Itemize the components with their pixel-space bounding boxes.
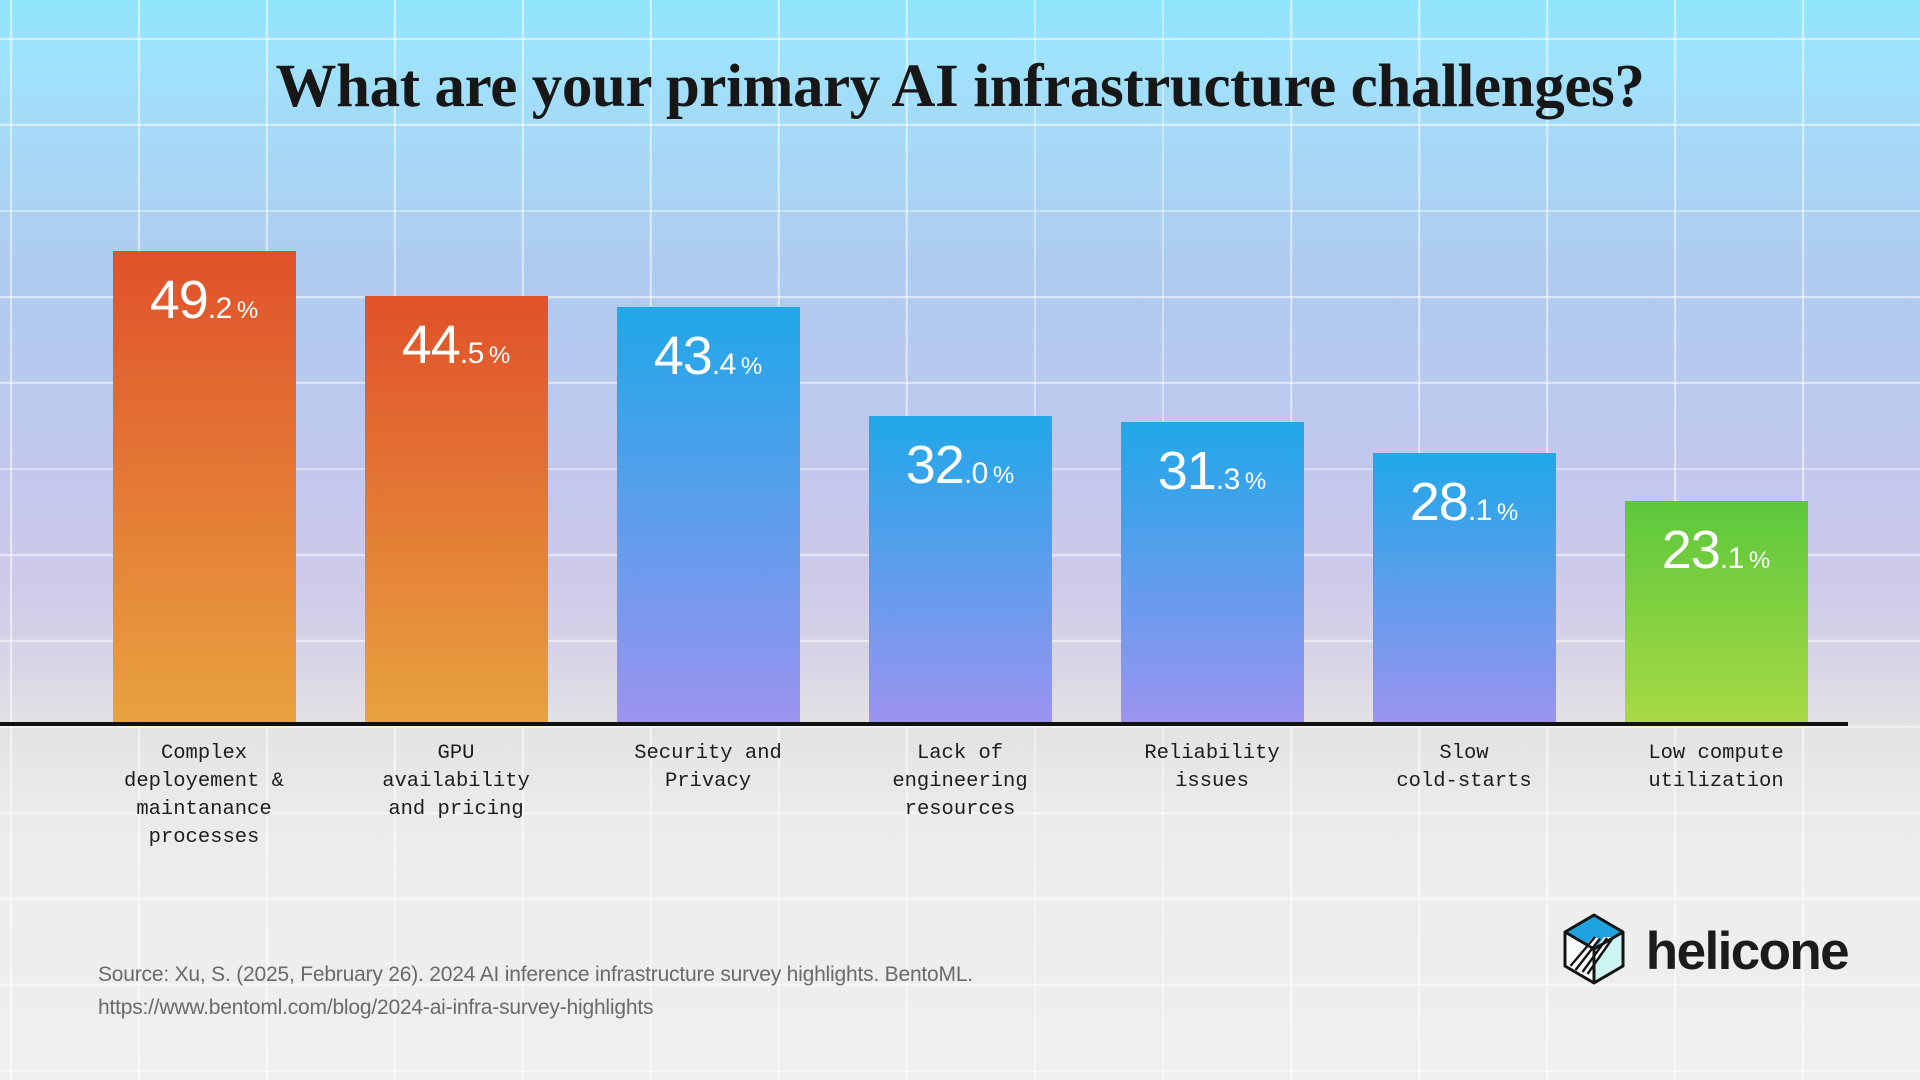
x-axis-category-label: GPU availability and pricing	[330, 740, 582, 824]
bar-value-decimal: .1	[1720, 542, 1744, 575]
bar-slot: 23.1%	[1590, 150, 1842, 722]
x-axis-category-label: Low compute utilization	[1590, 740, 1842, 796]
bar-value-label: 49.2%	[113, 273, 296, 327]
bar-value-integer: 32	[906, 435, 964, 495]
x-axis-category-label: Slow cold-starts	[1338, 740, 1590, 796]
bar-value-decimal: .5	[460, 337, 484, 370]
bar-value-percent-sign: %	[1245, 468, 1266, 495]
bar[interactable]: 43.4%	[617, 307, 800, 722]
bar-value-decimal: .0	[964, 457, 988, 490]
x-axis-category-label: Complex deployement & maintanance proces…	[78, 740, 330, 852]
bar-value-integer: 49	[150, 270, 208, 330]
bar-slot: 44.5%	[330, 150, 582, 722]
x-axis-category-label: Security and Privacy	[582, 740, 834, 796]
bar-value-decimal: .4	[712, 348, 736, 381]
bar-value-decimal: .2	[208, 292, 232, 325]
bar[interactable]: 32.0%	[869, 416, 1052, 722]
x-axis-category-labels: Complex deployement & maintanance proces…	[78, 740, 1843, 852]
bar[interactable]: 31.3%	[1121, 422, 1304, 722]
bar-value-label: 28.1%	[1373, 475, 1556, 529]
bar-value-percent-sign: %	[993, 462, 1014, 489]
bar-value-percent-sign: %	[489, 342, 510, 369]
chart-plot-area: 49.2%44.5%43.4%32.0%31.3%28.1%23.1%	[78, 150, 1843, 722]
bar-value-label: 43.4%	[617, 329, 800, 383]
x-axis-category-label: Lack of engineering resources	[834, 740, 1086, 824]
bar-slot: 32.0%	[834, 150, 1086, 722]
bar-value-label: 32.0%	[869, 438, 1052, 492]
bar[interactable]: 44.5%	[365, 296, 548, 722]
bar-value-decimal: .3	[1216, 463, 1240, 496]
x-axis-category-label: Reliability issues	[1086, 740, 1338, 796]
bar-value-integer: 28	[1410, 472, 1468, 532]
bar-value-percent-sign: %	[741, 353, 762, 380]
brand-name: helicone	[1646, 921, 1848, 982]
bar-value-label: 44.5%	[365, 318, 548, 372]
brand-lockup: helicone	[1562, 913, 1848, 990]
bar[interactable]: 49.2%	[113, 251, 296, 722]
bar[interactable]: 23.1%	[1625, 501, 1808, 722]
bar-value-integer: 23	[1662, 520, 1720, 580]
bar-value-integer: 43	[654, 326, 712, 386]
bar-value-decimal: .1	[1468, 494, 1492, 527]
infographic-poster: What are your primary AI infrastructure …	[0, 0, 1920, 1080]
bar-slot: 49.2%	[78, 150, 330, 722]
bar-slot: 31.3%	[1086, 150, 1338, 722]
bar-slot: 43.4%	[582, 150, 834, 722]
bar-value-integer: 31	[1158, 441, 1216, 501]
bar-value-label: 23.1%	[1625, 523, 1808, 577]
bar-value-label: 31.3%	[1121, 444, 1304, 498]
page-title: What are your primary AI infrastructure …	[0, 52, 1920, 122]
source-citation: Source: Xu, S. (2025, February 26). 2024…	[98, 958, 973, 1024]
bar-value-percent-sign: %	[237, 297, 258, 324]
bar[interactable]: 28.1%	[1373, 453, 1556, 722]
x-axis-line	[0, 722, 1848, 726]
cube-logo-icon	[1562, 913, 1626, 990]
bar-value-percent-sign: %	[1497, 499, 1518, 526]
bar-value-percent-sign: %	[1749, 547, 1770, 574]
bar-series: 49.2%44.5%43.4%32.0%31.3%28.1%23.1%	[78, 150, 1843, 722]
bar-slot: 28.1%	[1338, 150, 1590, 722]
bar-value-integer: 44	[402, 315, 460, 375]
